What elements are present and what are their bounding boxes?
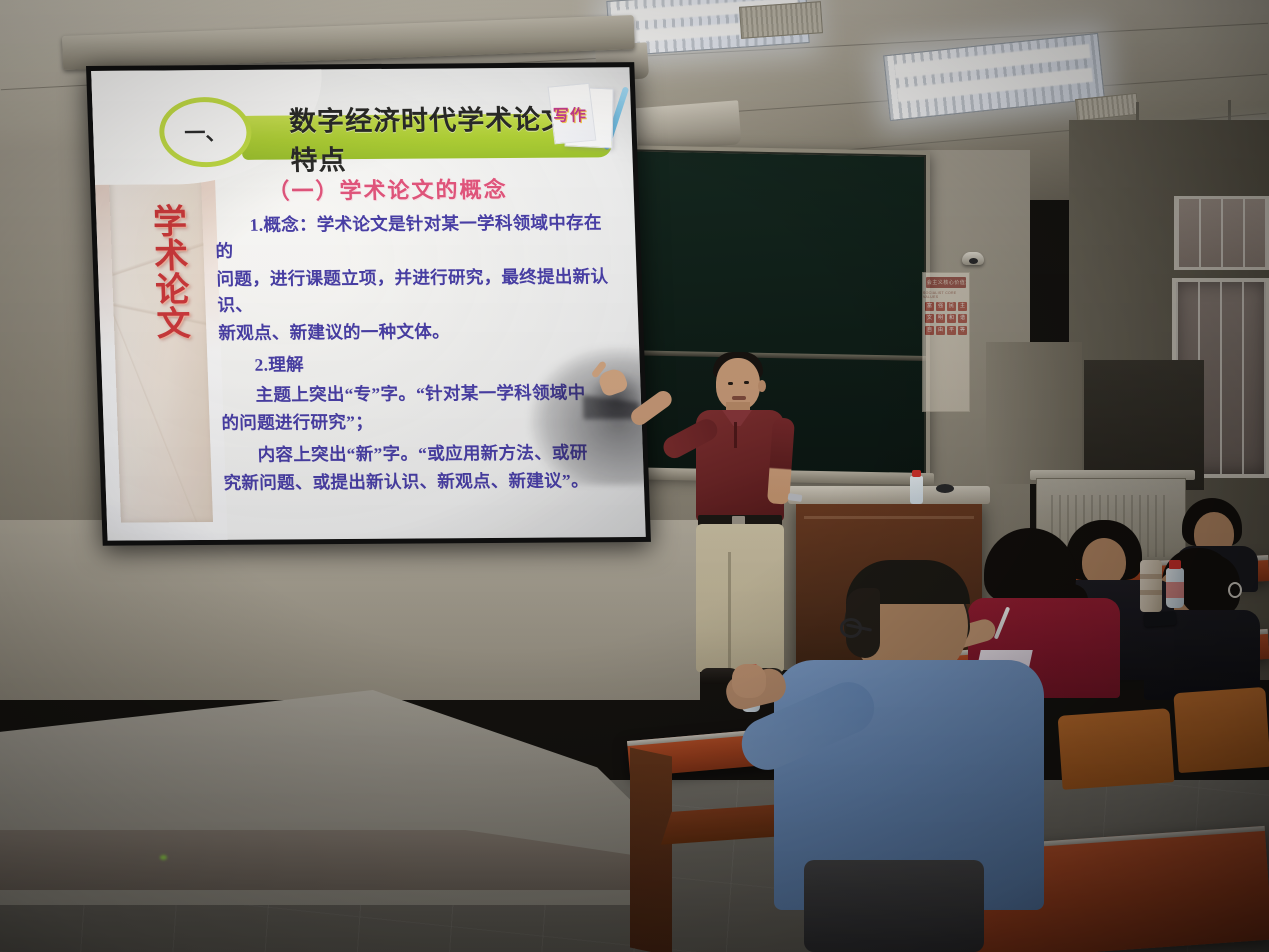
water-bottle	[1166, 568, 1184, 608]
attendee-trousers	[804, 860, 984, 952]
smartphone	[1144, 611, 1177, 627]
wristwatch	[788, 493, 803, 502]
ceiling-light-2	[883, 33, 1105, 121]
desk-object	[936, 484, 954, 493]
slide-vertical-banner: 学术论文	[116, 156, 196, 386]
poster-cell: 民	[947, 302, 956, 311]
presenter-placket	[734, 422, 737, 448]
presentation-slide: 学术论文 一、 数字经济时代学术论文的特点 写作 （一）学术论文的概念 1.概念…	[91, 67, 646, 540]
chair-back	[1173, 687, 1269, 773]
slide-body-line: 1.概念：学术论文是针对某一学科领域中存在的	[214, 209, 620, 264]
poster-cell: 由	[936, 326, 945, 335]
wall-poster: 社会主义核心价值观 SOCIALIST CORE VALUES 富 强 民 主 …	[922, 272, 970, 412]
poster-cell: 谐	[958, 314, 967, 323]
front-attendee	[760, 560, 1060, 952]
poster-cell: 富	[925, 302, 934, 311]
hair-clip	[1228, 582, 1242, 598]
poster-headline: 社会主义核心价值观	[926, 277, 966, 288]
poster-cell: 等	[958, 326, 967, 335]
poster-cell: 平	[947, 326, 956, 335]
slide-corner-decoration: 写作	[534, 83, 623, 156]
presenter-lowered-arm	[767, 417, 795, 504]
attendee-hand	[732, 664, 766, 698]
slide-body-line: 新观点、新建议的一种文体。	[218, 317, 623, 346]
poster-row: 富 强 民 主	[925, 302, 967, 311]
poster-cell: 文	[925, 314, 934, 323]
chair-back	[1058, 708, 1175, 790]
laser-pointer-dot	[160, 855, 167, 860]
presenter-ear	[758, 380, 766, 392]
thermos-cup	[1140, 560, 1162, 612]
slide-decoration-text: 写作	[553, 101, 588, 125]
poster-cell: 和	[947, 314, 956, 323]
window-transom	[1174, 196, 1269, 270]
front-lower-wall	[0, 520, 700, 700]
security-camera-icon	[962, 252, 984, 265]
poster-row: 文 明 和 谐	[925, 314, 967, 323]
eyeglasses-lens	[840, 618, 862, 638]
poster-subline: SOCIALIST CORE VALUES	[923, 291, 969, 299]
poster-row: 自 由 平 等	[925, 326, 967, 335]
wall-column	[986, 342, 1082, 484]
slide-body-line: 问题，进行课题立项，并进行研究，最终提出新认识、	[216, 263, 622, 318]
desk-side-panel	[630, 748, 672, 952]
projection-screen: 学术论文 一、 数字经济时代学术论文的特点 写作 （一）学术论文的概念 1.概念…	[86, 62, 651, 546]
water-bottle	[910, 476, 923, 504]
slide-section-marker-text: 一、	[184, 117, 227, 147]
poster-cell: 主	[958, 302, 967, 311]
ceiling-vent-1	[739, 1, 823, 39]
poster-cell: 强	[936, 302, 945, 311]
poster-cell: 明	[936, 314, 945, 323]
presenter-mouth	[732, 396, 746, 400]
poster-cell: 自	[925, 326, 934, 335]
lecture-hall-photo: 社会主义核心价值观 SOCIALIST CORE VALUES 富 强 民 主 …	[0, 0, 1269, 952]
